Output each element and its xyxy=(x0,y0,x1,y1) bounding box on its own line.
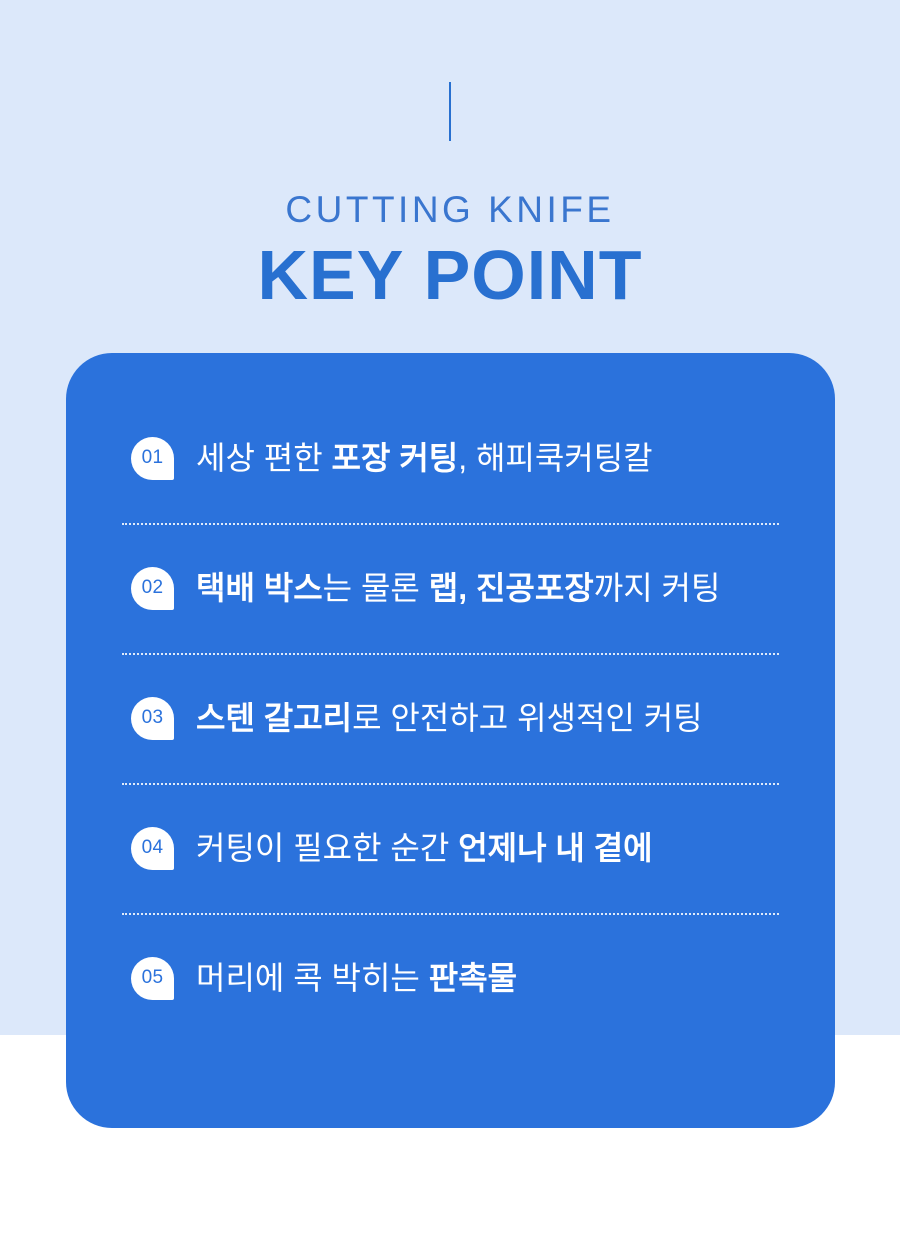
key-point-text-plain: 로 안전하고 위생적인 커팅 xyxy=(352,700,703,736)
key-point-text-plain: 머리에 콕 박히는 xyxy=(196,960,429,996)
key-point-number-badge: 03 xyxy=(131,697,174,740)
key-point-row: 03스텐 갈고리로 안전하고 위생적인 커팅 xyxy=(66,653,835,783)
key-point-list: 01세상 편한 포장 커팅, 해피쿡커팅칼02택배 박스는 물론 랩, 진공포장… xyxy=(66,353,835,1128)
key-point-number-badge: 05 xyxy=(131,957,174,1000)
key-point-text-emphasis: 스텐 갈고리 xyxy=(196,700,352,736)
key-point-text: 세상 편한 포장 커팅, 해피쿡커팅칼 xyxy=(196,436,653,480)
key-point-text-plain: 는 물론 xyxy=(323,570,429,606)
key-point-number: 03 xyxy=(142,708,164,727)
page-title: KEY POINT xyxy=(0,232,900,318)
key-point-number: 05 xyxy=(142,968,164,987)
key-point-number: 01 xyxy=(142,448,164,467)
key-point-text: 택배 박스는 물론 랩, 진공포장까지 커팅 xyxy=(196,566,720,610)
key-point-text-emphasis: 랩, 진공포장 xyxy=(429,570,594,606)
key-point-text-plain: , 해피쿡커팅칼 xyxy=(458,440,652,476)
key-point-text-plain: 커팅이 필요한 순간 xyxy=(196,830,458,866)
row-divider xyxy=(122,913,779,915)
section-eyebrow: CUTTING KNIFE xyxy=(0,187,900,233)
key-point-text-plain: 까지 커팅 xyxy=(594,570,721,606)
key-point-text-emphasis: 택배 박스 xyxy=(196,570,323,606)
key-point-section: CUTTING KNIFE KEY POINT 01세상 편한 포장 커팅, 해… xyxy=(0,0,900,1257)
key-point-row: 04커팅이 필요한 순간 언제나 내 곁에 xyxy=(66,783,835,913)
vertical-rule-icon xyxy=(449,82,451,141)
row-divider xyxy=(122,653,779,655)
key-point-text-emphasis: 언제나 내 곁에 xyxy=(458,830,652,866)
row-divider xyxy=(122,783,779,785)
key-point-text: 스텐 갈고리로 안전하고 위생적인 커팅 xyxy=(196,696,703,740)
key-point-number-badge: 02 xyxy=(131,567,174,610)
key-point-text: 머리에 콕 박히는 판촉물 xyxy=(196,956,517,1000)
key-point-number-badge: 04 xyxy=(131,827,174,870)
key-point-card: 01세상 편한 포장 커팅, 해피쿡커팅칼02택배 박스는 물론 랩, 진공포장… xyxy=(66,353,835,1128)
key-point-row: 05머리에 콕 박히는 판촉물 xyxy=(66,913,835,1043)
key-point-number: 04 xyxy=(142,838,164,857)
key-point-text-plain: 세상 편한 xyxy=(196,440,332,476)
key-point-text-emphasis: 판촉물 xyxy=(429,960,517,996)
row-divider xyxy=(122,523,779,525)
key-point-row: 02택배 박스는 물론 랩, 진공포장까지 커팅 xyxy=(66,523,835,653)
key-point-row: 01세상 편한 포장 커팅, 해피쿡커팅칼 xyxy=(66,393,835,523)
key-point-number-badge: 01 xyxy=(131,437,174,480)
key-point-text-emphasis: 포장 커팅 xyxy=(332,440,459,476)
key-point-number: 02 xyxy=(142,578,164,597)
key-point-text: 커팅이 필요한 순간 언제나 내 곁에 xyxy=(196,826,653,870)
